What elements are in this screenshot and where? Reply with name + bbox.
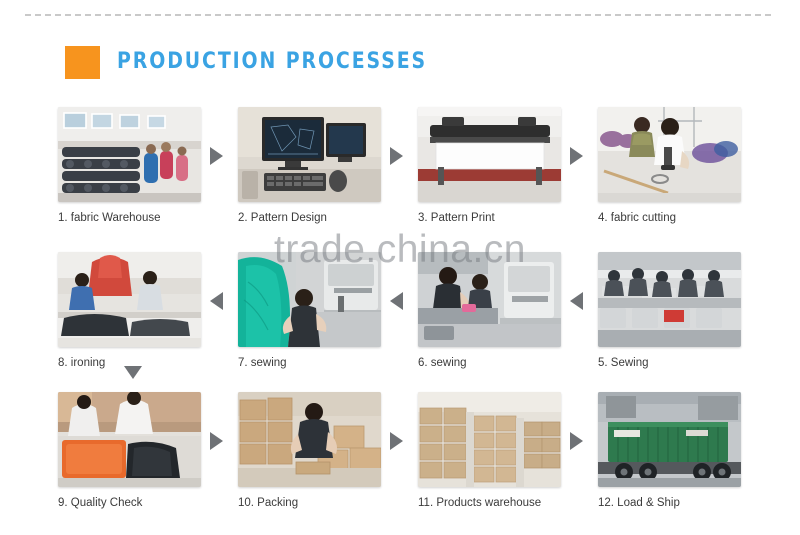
flow-arrow-right-icon <box>390 432 408 450</box>
process-step-label: 4. fabric cutting <box>598 212 741 226</box>
quality-check-photo <box>58 392 201 487</box>
process-row-2: 8. ironing <box>58 252 742 377</box>
sewing-photo <box>598 252 741 347</box>
process-step-label: 2. Pattern Design <box>238 212 381 226</box>
production-process-grid: 1. fabric Warehouse <box>0 0 800 535</box>
process-step-label: 3. Pattern Print <box>418 212 561 226</box>
process-step-label: 9. Quality Check <box>58 497 201 511</box>
packing-photo <box>238 392 381 487</box>
pattern-design-photo <box>238 107 381 202</box>
process-step-11[interactable]: 11. Products warehouse <box>418 392 561 517</box>
process-step-12[interactable]: 12. Load & Ship <box>598 392 741 517</box>
pattern-print-photo <box>418 107 561 202</box>
sewing-photo <box>418 252 561 347</box>
flow-arrow-left-icon <box>570 292 588 310</box>
process-step-8[interactable]: 8. ironing <box>58 252 201 377</box>
process-step-label: 7. sewing <box>238 357 381 371</box>
flow-arrow-right-icon <box>570 147 588 165</box>
process-step-label: 1. fabric Warehouse <box>58 212 201 226</box>
process-step-10[interactable]: 10. Packing <box>238 392 381 517</box>
fabric-cutting-photo <box>598 107 741 202</box>
process-step-label: 5. Sewing <box>598 357 741 371</box>
flow-arrow-left-icon <box>390 292 408 310</box>
process-row-1: 1. fabric Warehouse <box>58 107 742 232</box>
process-step-7[interactable]: 7. sewing <box>238 252 381 377</box>
load-and-ship-photo <box>598 392 741 487</box>
process-step-4[interactable]: 4. fabric cutting <box>598 107 741 232</box>
process-step-label: 10. Packing <box>238 497 381 511</box>
process-step-9[interactable]: 9. Quality Check <box>58 392 201 517</box>
flow-arrow-right-icon <box>210 147 228 165</box>
flow-arrow-right-icon <box>390 147 408 165</box>
fabric-warehouse-photo <box>58 107 201 202</box>
process-step-label: 12. Load & Ship <box>598 497 741 511</box>
process-step-3[interactable]: 3. Pattern Print <box>418 107 561 232</box>
process-row-3: 9. Quality Check <box>58 392 742 517</box>
process-step-label: 11. Products warehouse <box>418 497 561 511</box>
sewing-photo <box>238 252 381 347</box>
flow-arrow-down-icon <box>124 366 142 379</box>
process-step-5[interactable]: 5. Sewing <box>598 252 741 377</box>
process-step-1[interactable]: 1. fabric Warehouse <box>58 107 201 232</box>
process-step-label: 6. sewing <box>418 357 561 371</box>
flow-arrow-right-icon <box>570 432 588 450</box>
products-warehouse-photo <box>418 392 561 487</box>
flow-arrow-left-icon <box>210 292 228 310</box>
flow-arrow-right-icon <box>210 432 228 450</box>
process-step-6[interactable]: 6. sewing <box>418 252 561 377</box>
ironing-photo <box>58 252 201 347</box>
process-step-2[interactable]: 2. Pattern Design <box>238 107 381 232</box>
